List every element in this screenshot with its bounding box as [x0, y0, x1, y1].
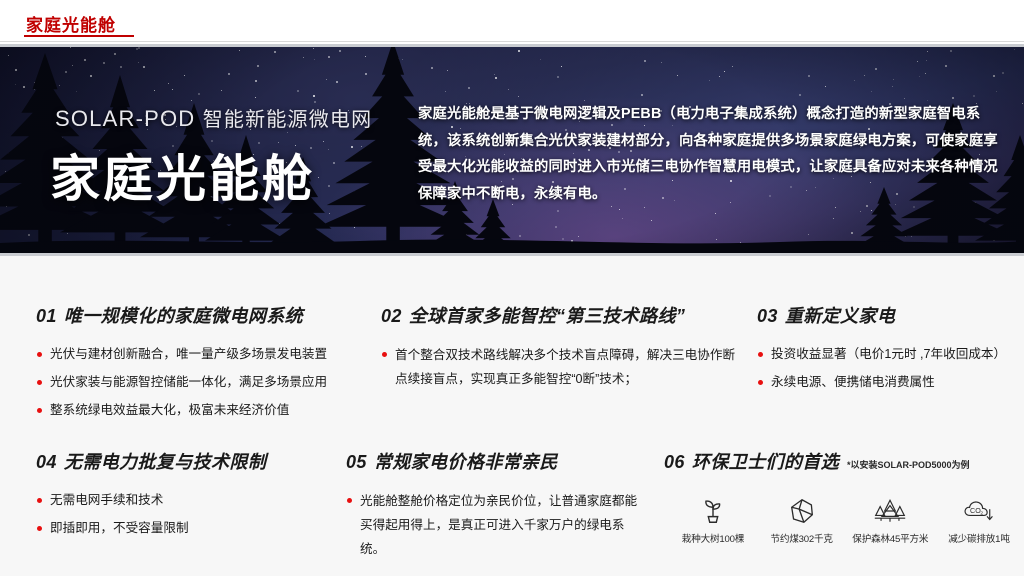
feature-number-06: 06 — [664, 452, 685, 472]
list-item: 整系统绿电效益最大化，极富未来经济价值 — [36, 399, 366, 421]
feature-title-03: 重新定义家电 — [785, 306, 895, 326]
page-title: 家庭光能舱 — [26, 11, 116, 36]
sprout-icon — [670, 494, 756, 528]
feature-number-03: 03 — [757, 306, 778, 326]
features-section: 01唯一规模化的家庭微电网系统 光伏与建材创新融合，唯一量产级多场景发电装置 光… — [0, 256, 1024, 576]
feature-heading-06: 06环保卫士们的首选*以安装SOLAR-POD5000为例 — [664, 448, 1020, 474]
feature-heading-01: 01唯一规模化的家庭微电网系统 — [36, 302, 366, 328]
feature-card-02: 02全球首家多能智控“第三技术路线” 首个整合双技术路线解决多个技术盲点障碍，解… — [381, 302, 741, 397]
hero-kicker: SOLAR-POD 智能新能源微电网 — [55, 103, 372, 132]
feature-title-05: 常规家电价格非常亲民 — [374, 452, 558, 472]
list-item: 投资收益显著（电价1元时 ,7年收回成本） — [757, 343, 1019, 365]
feature-heading-03: 03重新定义家电 — [757, 302, 1019, 328]
feature-card-06: 06环保卫士们的首选*以安装SOLAR-POD5000为例 栽种大树100棵 — [664, 448, 1020, 474]
eco-stat-label: 节约煤302千克 — [759, 531, 845, 545]
feature-number-04: 04 — [36, 452, 57, 472]
list-item: 光能舱整舱价格定位为亲民价位，让普通家庭都能买得起用得上，是真正可进入千家万户的… — [346, 489, 646, 561]
eco-stat-label: 保护森林45平方米 — [847, 531, 933, 545]
svg-text:2: 2 — [980, 511, 983, 517]
feature-title-06: 环保卫士们的首选 — [692, 452, 839, 472]
top-bar: 家庭光能舱 — [0, 0, 1024, 44]
eco-stats-row: 栽种大树100棵 节约煤302千克 — [670, 494, 1022, 545]
hero-paragraph: 家庭光能舱是基于微电网逻辑及PEBB（电力电子集成系统）概念打造的新型家庭智电系… — [418, 101, 1000, 207]
feature-card-01: 01唯一规模化的家庭微电网系统 光伏与建材创新融合，唯一量产级多场景发电装置 光… — [36, 302, 366, 427]
forest-icon — [847, 494, 933, 528]
list-item: 永续电源、便携储电消费属性 — [757, 371, 1019, 393]
header-divider — [0, 41, 1024, 42]
eco-stat-co2: CO 2 减少碳排放1吨 — [936, 494, 1022, 545]
list-item: 首个整合双技术路线解决多个技术盲点障碍，解决三电协作断点续接盲点，实现真正多能智… — [381, 343, 741, 391]
eco-stat-forest: 保护森林45平方米 — [847, 494, 933, 545]
feature-card-04: 04无需电力批复与技术限制 无需电网手续和技术 即插即用，不受容量限制 — [36, 448, 346, 545]
coal-lump-icon — [759, 494, 845, 528]
feature-bullets-04: 无需电网手续和技术 即插即用，不受容量限制 — [36, 489, 346, 539]
list-item: 光伏家装与能源智控储能一体化，满足多场景应用 — [36, 371, 366, 393]
eco-stat-label: 减少碳排放1吨 — [936, 531, 1022, 545]
list-item: 光伏与建材创新融合，唯一量产级多场景发电装置 — [36, 343, 366, 365]
feature-number-02: 02 — [381, 306, 402, 326]
feature-footnote: *以安装SOLAR-POD5000为例 — [847, 460, 970, 470]
feature-number-01: 01 — [36, 306, 57, 326]
feature-card-03: 03重新定义家电 投资收益显著（电价1元时 ,7年收回成本） 永续电源、便携储电… — [757, 302, 1019, 399]
eco-stat-label: 栽种大树100棵 — [670, 531, 756, 545]
feature-bullets-02: 首个整合双技术路线解决多个技术盲点障碍，解决三电协作断点续接盲点，实现真正多能智… — [381, 343, 741, 391]
feature-bullets-03: 投资收益显著（电价1元时 ,7年收回成本） 永续电源、便携储电消费属性 — [757, 343, 1019, 393]
eco-stat-coal: 节约煤302千克 — [759, 494, 845, 545]
feature-heading-05: 05常规家电价格非常亲民 — [346, 448, 646, 474]
feature-title-02: 全球首家多能智控“第三技术路线” — [409, 306, 685, 326]
list-item: 即插即用，不受容量限制 — [36, 517, 346, 539]
hero-kicker-en: SOLAR-POD — [55, 106, 195, 131]
feature-heading-04: 04无需电力批复与技术限制 — [36, 448, 346, 474]
list-item: 无需电网手续和技术 — [36, 489, 346, 511]
hero-kicker-cn: 智能新能源微电网 — [203, 109, 373, 131]
feature-bullets-05: 光能舱整舱价格定位为亲民价位，让普通家庭都能买得起用得上，是真正可进入千家万户的… — [346, 489, 646, 561]
co2-cloud-icon: CO 2 — [936, 494, 1022, 528]
feature-heading-02: 02全球首家多能智控“第三技术路线” — [381, 302, 741, 328]
feature-title-04: 无需电力批复与技术限制 — [64, 452, 266, 472]
feature-title-01: 唯一规模化的家庭微电网系统 — [64, 306, 303, 326]
feature-number-05: 05 — [346, 452, 367, 472]
feature-bullets-01: 光伏与建材创新融合，唯一量产级多场景发电装置 光伏家装与能源智控储能一体化，满足… — [36, 343, 366, 421]
feature-card-05: 05常规家电价格非常亲民 光能舱整舱价格定位为亲民价位，让普通家庭都能买得起用得… — [346, 448, 646, 567]
hero-title: 家庭光能舱 — [50, 139, 315, 211]
hero-banner: SOLAR-POD 智能新能源微电网 家庭光能舱 家庭光能舱是基于微电网逻辑及P… — [0, 44, 1024, 256]
eco-stat-sprout: 栽种大树100棵 — [670, 494, 756, 545]
title-underline — [24, 35, 134, 37]
